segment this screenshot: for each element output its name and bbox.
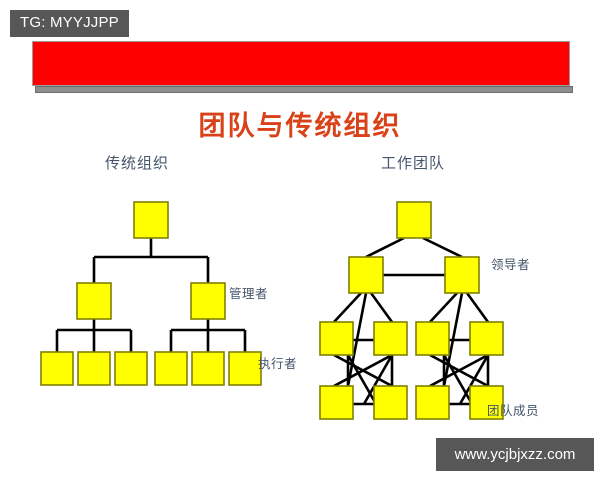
right-node-top — [397, 202, 431, 238]
label-team-member: 团队成员 — [487, 400, 539, 419]
caption-work-team: 工作团队 — [381, 152, 445, 173]
right-node-member-1 — [320, 322, 353, 355]
caption-traditional-organization: 传统组织 — [105, 152, 169, 173]
right-node-member-5 — [416, 322, 449, 355]
right-node-member-6 — [470, 322, 503, 355]
tag-chip: TG: MYYJJPP — [10, 10, 129, 37]
label-manager: 管理者 — [229, 283, 268, 302]
right-node-leader-2 — [445, 257, 479, 293]
right-node-member-7 — [416, 386, 449, 419]
right-node-member-4 — [374, 386, 407, 419]
label-leader: 领导者 — [491, 254, 530, 273]
label-worker: 执行者 — [258, 353, 297, 372]
page-title: 团队与传统组织 — [0, 104, 600, 143]
right-node-member-2 — [374, 322, 407, 355]
right-node-boxes — [320, 202, 503, 419]
watermark: www.ycjbjxzz.com — [436, 438, 594, 471]
slide-canvas: TG: MYYJJPP 团队与传统组织 传统组织 工作团队 — [0, 0, 600, 480]
right-node-leader-1 — [349, 257, 383, 293]
right-node-member-3 — [320, 386, 353, 419]
